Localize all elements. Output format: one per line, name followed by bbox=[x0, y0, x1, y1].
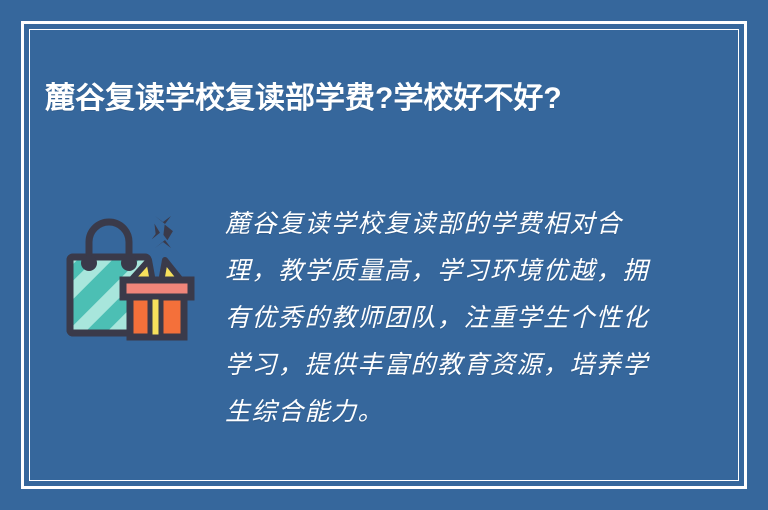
article-body: 麓谷复读学校复读部的学费相对合理，教学质量高，学习环境优越，拥有优秀的教师团队，… bbox=[225, 200, 655, 435]
shopping-bag-and-gift-illustration bbox=[53, 210, 203, 360]
article-card: 麓谷复读学校复读部学费?学校好不好? bbox=[0, 0, 768, 510]
article-content: 麓谷复读学校复读部的学费相对合理，教学质量高，学习环境优越，拥有优秀的教师团队，… bbox=[45, 200, 723, 435]
page-title: 麓谷复读学校复读部学费?学校好不好? bbox=[45, 74, 645, 123]
